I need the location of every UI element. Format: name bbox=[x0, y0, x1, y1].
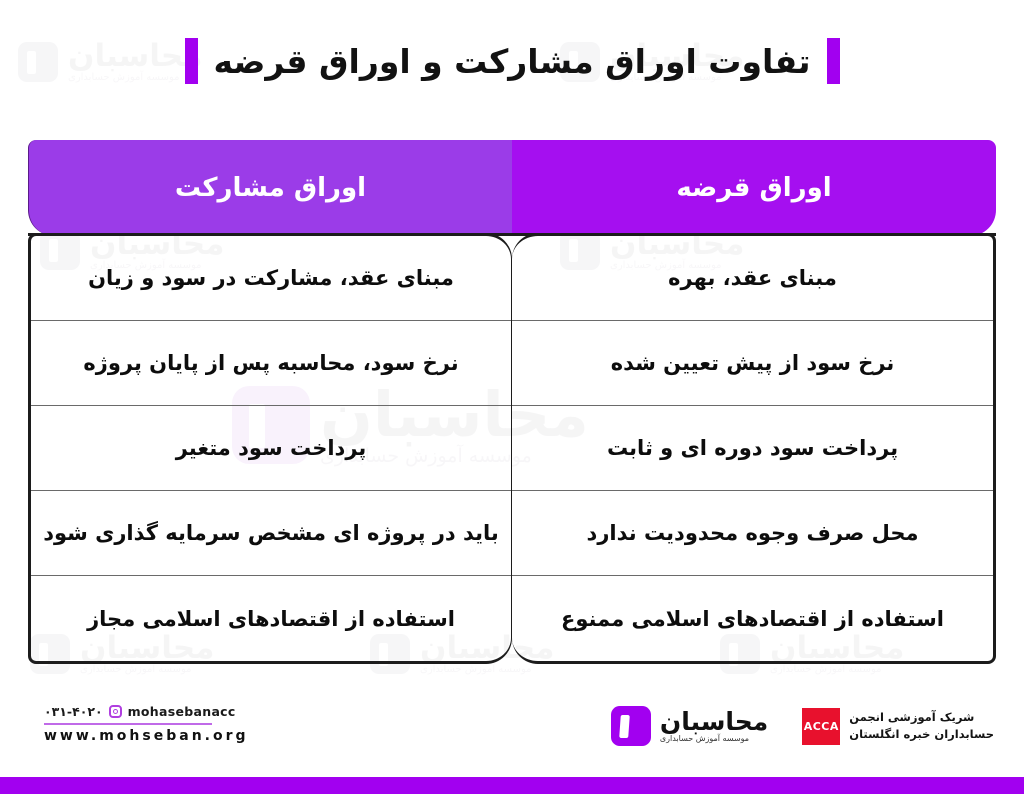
watermark-subtitle: موسسه آموزش حسابداری bbox=[80, 665, 192, 676]
page-header: تفاوت اوراق مشارکت و اوراق قرضه bbox=[0, 18, 1024, 104]
title-accent-bar-right bbox=[827, 38, 840, 84]
table-cell: نرخ سود، محاسبه پس از پایان پروژه bbox=[31, 321, 511, 406]
brand-name: محاسبان bbox=[660, 708, 768, 736]
table-body: مبنای عقد، بهره نرخ سود از پیش تعیین شده… bbox=[28, 233, 996, 664]
acca-logo: ACCA شریک آموزشی انجمن حسابداران خبره ان… bbox=[802, 708, 994, 745]
instagram-handle[interactable]: mohasebanacc bbox=[128, 704, 236, 719]
acca-line-1: شریک آموزشی انجمن bbox=[849, 709, 974, 726]
instagram-icon[interactable] bbox=[109, 705, 122, 718]
footer-contact-block: ۰۳۱-۴۰۲۰ mohasebanacc www.mohseban.org bbox=[44, 704, 249, 744]
acca-line-2: حسابداران خبره انگلستان bbox=[849, 726, 994, 743]
table-cell: استفاده از اقتصادهای اسلامی مجاز bbox=[31, 576, 511, 661]
column-header-mosharekat: اوراق مشارکت bbox=[28, 140, 512, 236]
page-footer: ۰۳۱-۴۰۲۰ mohasebanacc www.mohseban.org م… bbox=[0, 700, 1024, 778]
table-cell: مبنای عقد، بهره bbox=[512, 236, 993, 321]
table-cell: محل صرف وجوه محدودیت ندارد bbox=[512, 491, 993, 576]
footer-logo-group: محاسبان موسسه آموزش حسابداری ACCA شریک آ… bbox=[611, 706, 994, 746]
bottom-accent-strip bbox=[0, 777, 1024, 794]
brand-subtitle: موسسه آموزش حسابداری bbox=[660, 735, 749, 744]
page-title: تفاوت اوراق مشارکت و اوراق قرضه bbox=[214, 42, 811, 81]
brand-logo: محاسبان موسسه آموزش حسابداری bbox=[611, 706, 768, 746]
table-cell: پرداخت سود دوره ای و ثابت bbox=[512, 406, 993, 491]
watermark-subtitle: موسسه آموزش حسابداری bbox=[420, 665, 532, 676]
table-cell: نرخ سود از پیش تعیین شده bbox=[512, 321, 993, 406]
website-link[interactable]: www.mohseban.org bbox=[44, 728, 249, 744]
column-body-gharzeh: مبنای عقد، بهره نرخ سود از پیش تعیین شده… bbox=[512, 233, 996, 664]
brand-mark-icon bbox=[611, 706, 651, 746]
phone-number: ۰۳۱-۴۰۲۰ bbox=[44, 704, 103, 719]
column-header-gharzeh: اوراق قرضه bbox=[512, 140, 996, 236]
table-cell: مبنای عقد، مشارکت در سود و زیان bbox=[31, 236, 511, 321]
watermark-subtitle: موسسه آموزش حسابداری bbox=[770, 665, 882, 676]
contact-social-line: ۰۳۱-۴۰۲۰ mohasebanacc bbox=[44, 704, 249, 719]
table-header-row: اوراق قرضه اوراق مشارکت bbox=[28, 140, 996, 236]
acca-mark-icon: ACCA bbox=[802, 708, 840, 745]
table-cell: پرداخت سود متغیر bbox=[31, 406, 511, 491]
column-body-mosharekat: مبنای عقد، مشارکت در سود و زیان نرخ سود،… bbox=[28, 233, 512, 664]
table-cell: استفاده از اقتصادهای اسلامی ممنوع bbox=[512, 576, 993, 661]
comparison-table: اوراق قرضه اوراق مشارکت مبنای عقد، بهره … bbox=[28, 140, 996, 664]
contact-divider bbox=[44, 723, 212, 725]
title-accent-bar-left bbox=[185, 38, 198, 84]
table-cell: باید در پروژه ای مشخص سرمایه گذاری شود bbox=[31, 491, 511, 576]
